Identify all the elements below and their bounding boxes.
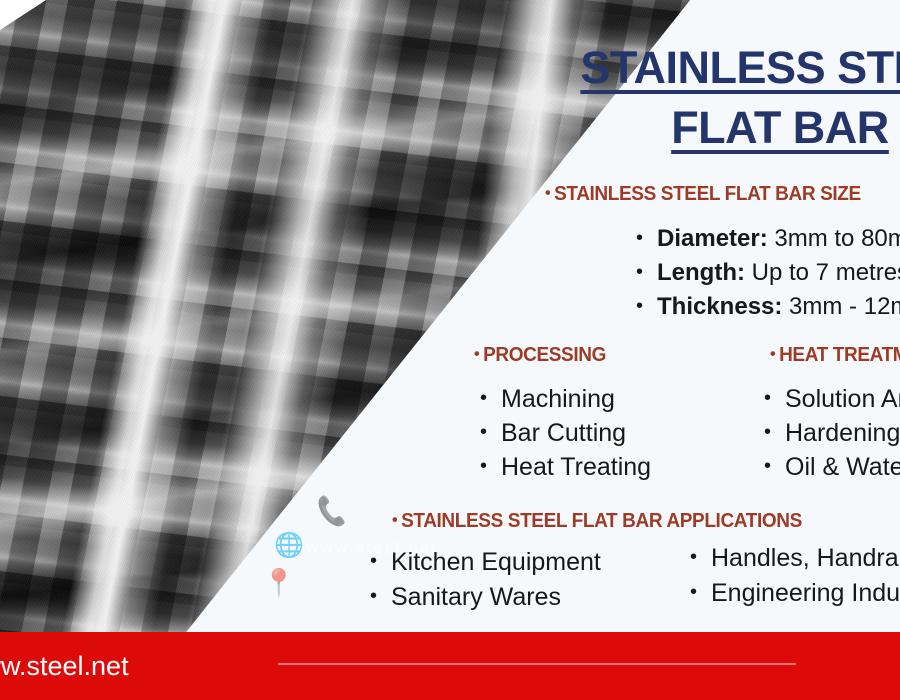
bottom-banner: www.steel.net bbox=[0, 632, 900, 700]
spec-value: Up to 7 metres bbox=[745, 259, 900, 286]
spec-label: Thickness: bbox=[657, 293, 782, 320]
list-item: Length: Up to 7 metres bbox=[636, 256, 900, 290]
list-item: Handles, Handrails bbox=[690, 541, 900, 576]
applications-list-right: Handles, Handrails Engineering Industrie… bbox=[690, 541, 900, 611]
list-item: Bar Cutting bbox=[480, 416, 651, 450]
spec-value: 3mm to 80mm bbox=[768, 225, 900, 252]
heat-treatment-section-heading: •HEAT TREATMENT bbox=[770, 344, 900, 367]
list-item: Hardening bbox=[764, 416, 900, 450]
processing-section-heading: •PROCESSING bbox=[474, 344, 606, 367]
list-item: Oil & Water Quenching bbox=[764, 450, 900, 484]
page-title-line-1: STAINLESS STEEL bbox=[430, 38, 900, 98]
page-title-line-2: FLAT BAR bbox=[430, 98, 900, 158]
applications-section-heading-label: STAINLESS STEEL FLAT BAR APPLICATIONS bbox=[401, 510, 802, 532]
list-item: Kitchen Equipment bbox=[370, 545, 601, 580]
bullet-icon: • bbox=[545, 183, 550, 202]
applications-section-heading: •STAINLESS STEEL FLAT BAR APPLICATIONS bbox=[392, 510, 802, 533]
bullet-icon: • bbox=[770, 344, 775, 363]
list-item: Diameter: 3mm to 80mm bbox=[636, 222, 900, 256]
list-item: Thickness: 3mm - 12mm bbox=[636, 290, 900, 324]
spec-list: Diameter: 3mm to 80mm Length: Up to 7 me… bbox=[636, 222, 900, 324]
processing-section-heading-label: PROCESSING bbox=[483, 344, 606, 366]
list-item: Engineering Industries bbox=[690, 576, 900, 611]
spec-section-heading: •STAINLESS STEEL FLAT BAR SIZE bbox=[545, 183, 861, 206]
list-item: Sanitary Wares bbox=[370, 580, 601, 615]
processing-list: Machining Bar Cutting Heat Treating bbox=[480, 382, 651, 484]
spec-label: Diameter: bbox=[657, 225, 768, 252]
applications-list-left: Kitchen Equipment Sanitary Wares bbox=[370, 545, 601, 615]
list-item: Solution Annealing bbox=[764, 382, 900, 416]
infographic-canvas: 📞 🌐 📍 www.steel.net STAINLESS STEEL FLAT… bbox=[0, 0, 900, 700]
bullet-icon: • bbox=[474, 344, 479, 363]
heat-treatment-section-heading-label: HEAT TREATMENT bbox=[779, 344, 900, 366]
list-item: Machining bbox=[480, 382, 651, 416]
spec-value: 3mm - 12mm bbox=[782, 293, 900, 320]
heat-treatment-list: Solution Annealing Hardening Oil & Water… bbox=[764, 382, 900, 484]
banner-divider bbox=[278, 663, 796, 665]
spec-section-heading-label: STAINLESS STEEL FLAT BAR SIZE bbox=[554, 183, 861, 205]
banner-url[interactable]: www.steel.net bbox=[0, 648, 129, 684]
page-title: STAINLESS STEEL FLAT BAR bbox=[430, 38, 900, 158]
list-item: Heat Treating bbox=[480, 450, 651, 484]
bullet-icon: • bbox=[392, 510, 397, 529]
spec-label: Length: bbox=[657, 259, 745, 286]
